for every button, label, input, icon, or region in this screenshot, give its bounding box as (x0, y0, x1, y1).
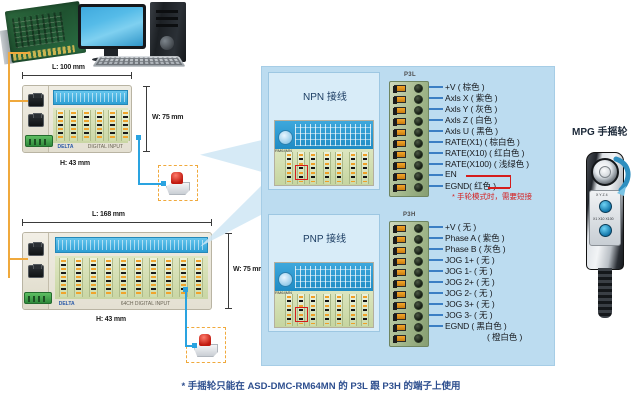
mpg-axis-scale-label: X Y Z 4 (596, 193, 608, 197)
module-blue-header (53, 90, 128, 105)
blue-wire-large-v (185, 289, 187, 346)
p3l-lead-8 (429, 174, 443, 176)
module-blue-header-large (55, 237, 208, 253)
short-brace-bottom (488, 187, 510, 189)
dim-label-height-large: H: 43 mm (96, 316, 126, 323)
brand-mark-small: DELTA (58, 144, 74, 150)
dim-label-length-large: L: 168 mm (92, 211, 125, 218)
short-brace-top (466, 175, 510, 177)
rj45-port-1-large (28, 243, 44, 256)
module-terminal-field (53, 108, 128, 143)
pnp-board-side-label: RM64MN (275, 290, 284, 327)
estop-button-small (171, 172, 183, 184)
npn-board-terminals (275, 149, 373, 185)
mpg-rate-selector-knob[interactable] (599, 224, 612, 237)
mpg-front-panel: X Y Z 4 X1 X10 X100 (589, 190, 621, 246)
module-caption-large: 64CH DIGITAL INPUT (121, 301, 170, 307)
mpg-rotation-arrow-icon (612, 156, 634, 198)
p3h-lead-1 (429, 237, 443, 239)
rj45-port-2 (28, 114, 44, 127)
npn-board-dial (278, 130, 293, 145)
rj45-port-2-large (28, 265, 44, 278)
pnp-title: PNP 接线 (303, 230, 346, 245)
blue-node-large-end (192, 343, 197, 348)
callout-wedge-small (200, 140, 262, 172)
p3h-lead-2 (429, 248, 443, 250)
brand-mark-large: DELTA (59, 301, 75, 307)
p3h-lead-0 (429, 226, 443, 228)
power-connector (25, 135, 53, 147)
dim-line-length-small (22, 75, 132, 76)
module-caption-small: DIGITAL INPUT (88, 144, 123, 150)
dim-label-length-small: L: 100 mm (52, 64, 85, 71)
p3l-lead-7 (429, 163, 443, 165)
p3h-lead-8 (429, 314, 443, 316)
estop-button-large (199, 334, 211, 346)
pnp-jumper-highlight (295, 307, 308, 322)
dim-line-width-large (228, 233, 229, 309)
npn-title: NPN 接线 (303, 88, 347, 103)
p3l-lead-1 (429, 97, 443, 99)
monitor (78, 4, 146, 49)
mpg-cable (598, 268, 612, 318)
module-left-face (23, 86, 49, 152)
dim-label-width-small: W: 75 mm (152, 114, 183, 121)
blue-node-small-top (136, 135, 141, 140)
module-left-face-large (23, 233, 49, 309)
p3l-lead-0 (429, 86, 443, 88)
p3h-lead-5 (429, 281, 443, 283)
dim-label-width-large: W: 75 mm (233, 266, 264, 273)
dim-line-length-large (22, 222, 212, 223)
p3h-lead-6 (429, 292, 443, 294)
pnp-board-photo: RM64MN (274, 262, 374, 328)
blue-node-large-top (183, 287, 188, 292)
footer-note: * 手摇轮只能在 ASD-DMC-RM64MN 的 P3L 跟 P3H 的端子上… (0, 378, 642, 392)
pnp-board-terminals (275, 291, 373, 327)
orange-bus-to-small-module (8, 100, 28, 102)
blue-node-small-end (161, 181, 166, 186)
npn-jumper-highlight (295, 165, 308, 180)
p3h-pin-label-10: ( 橙白色 ) (487, 331, 522, 343)
pc-tower (150, 2, 186, 62)
io-module-large: DELTA 64CH DIGITAL INPUT (22, 232, 212, 310)
mpg-rate-scale-label: X1 X10 X100 (593, 217, 614, 221)
p3l-pin-label-7: RATE(X100) ( 浅绿色 ) (445, 158, 529, 170)
p3h-lead-3 (429, 259, 443, 261)
p3l-connector-label: P3L (404, 72, 416, 78)
orange-bus-to-pci (8, 52, 30, 54)
keyboard (92, 56, 185, 66)
diagram-canvas: DELTA DIGITAL INPUT L: 100 mm W: 75 mm H… (0, 0, 642, 407)
io-module-small: DELTA DIGITAL INPUT (22, 85, 132, 153)
power-connector-large (24, 292, 52, 304)
monitor-screen (81, 7, 143, 46)
short-brace-right (508, 175, 511, 188)
p3l-pin-label-8: EN (445, 169, 457, 179)
p3l-short-note: * 手轮模式时，需要短接 (452, 191, 532, 202)
p3l-lead-5 (429, 141, 443, 143)
orange-bus-to-large-module (8, 258, 28, 260)
orange-bus-vertical (8, 52, 10, 278)
p3h-lead-9 (429, 325, 443, 327)
rj45-port-1 (28, 94, 44, 107)
pnp-board-dial (278, 272, 293, 287)
p3h-connector-label: P3H (403, 212, 416, 218)
blue-wire-small-v (138, 137, 140, 184)
dim-line-width-small (146, 86, 147, 152)
npn-board-side-label: RM64MN (275, 148, 284, 185)
pci-motion-card (5, 1, 87, 63)
p3l-lead-3 (429, 119, 443, 121)
mpg-title: MPG 手摇轮 (572, 123, 628, 138)
p3h-connector-block (389, 221, 429, 347)
p3l-lead-9 (429, 185, 443, 187)
dim-label-height-small: H: 43 mm (60, 160, 90, 167)
p3h-lead-4 (429, 270, 443, 272)
p3h-lead-7 (429, 303, 443, 305)
npn-board-photo: RM64MN (274, 120, 374, 186)
mpg-axis-selector-knob[interactable] (599, 200, 612, 213)
p3l-lead-2 (429, 108, 443, 110)
p3l-lead-4 (429, 130, 443, 132)
p3l-lead-6 (429, 152, 443, 154)
p3l-connector-block (389, 81, 429, 197)
